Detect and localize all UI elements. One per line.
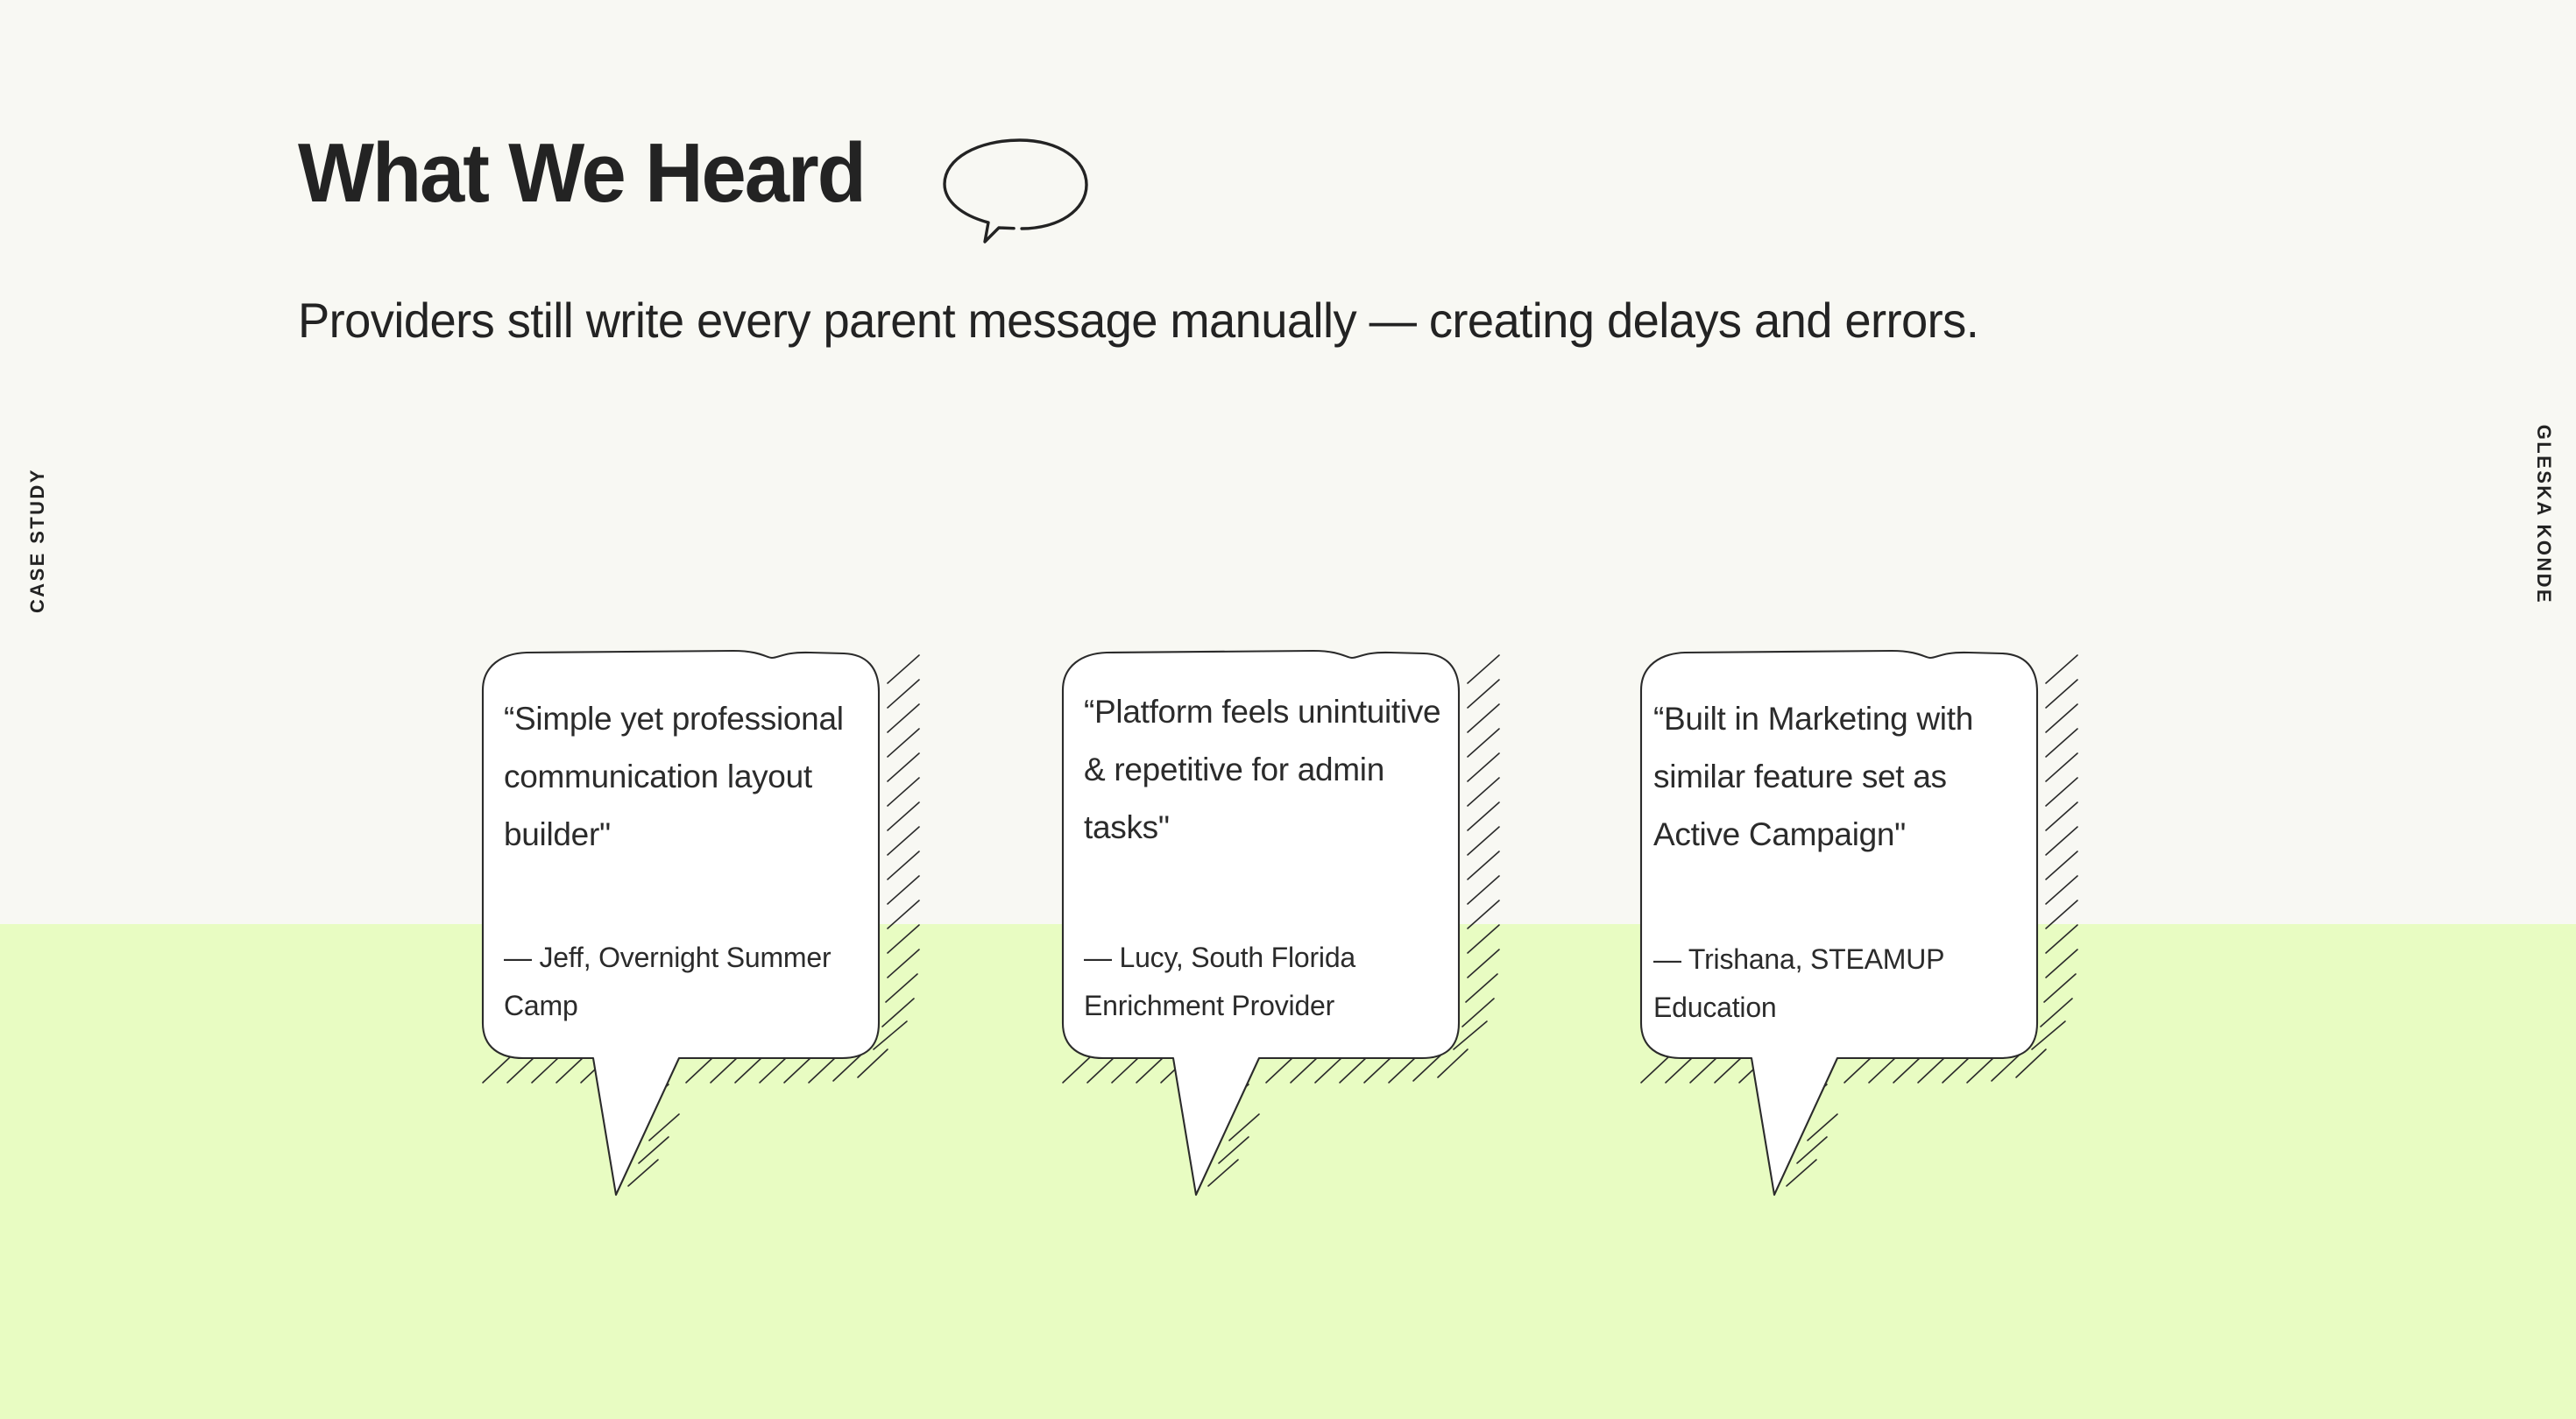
quote-attribution-wrap: — Trishana, STEAMUP Education: [1653, 935, 2030, 1032]
quote-card[interactable]: “Simple yet professional communication l…: [453, 648, 944, 1261]
quote-card[interactable]: “Platform feels unintuitive & repetitive…: [1033, 648, 1524, 1261]
quote-attribution-wrap: — Lucy, South Florida Enrichment Provide…: [1084, 934, 1461, 1030]
quote-card-body: “Simple yet professional communication l…: [504, 690, 854, 1030]
title-row: What We Heard: [298, 131, 2226, 245]
side-label-case-study: CASE STUDY: [26, 468, 49, 613]
slide-canvas: What We Heard Providers still write ever…: [0, 0, 2576, 1419]
quote-card-list: “Simple yet professional communication l…: [453, 648, 2205, 1261]
quote-attribution: — Trishana, STEAMUP Education: [1653, 935, 2030, 1032]
quote-text: “Platform feels unintuitive & repetitive…: [1084, 683, 1461, 857]
speech-bubble-icon: [936, 135, 1093, 253]
quote-text: “Simple yet professional communication l…: [504, 690, 854, 864]
quote-card-body: “Platform feels unintuitive & repetitive…: [1084, 683, 1461, 1030]
quote-attribution: — Lucy, South Florida Enrichment Provide…: [1084, 934, 1461, 1030]
header: What We Heard Providers still write ever…: [298, 131, 2226, 405]
quote-text: “Built in Marketing with similar feature…: [1653, 690, 2030, 864]
quote-attribution-wrap: — Jeff, Overnight Summer Camp: [504, 934, 854, 1030]
quote-card-body: “Built in Marketing with similar feature…: [1653, 690, 2030, 1032]
side-label-brand: GLESKA KONDE: [2532, 425, 2555, 604]
quote-card[interactable]: “Built in Marketing with similar feature…: [1611, 648, 2102, 1261]
page-title: What We Heard: [298, 131, 865, 215]
page-subtitle: Providers still write every parent messa…: [298, 286, 2041, 356]
quote-attribution: — Jeff, Overnight Summer Camp: [504, 934, 854, 1030]
